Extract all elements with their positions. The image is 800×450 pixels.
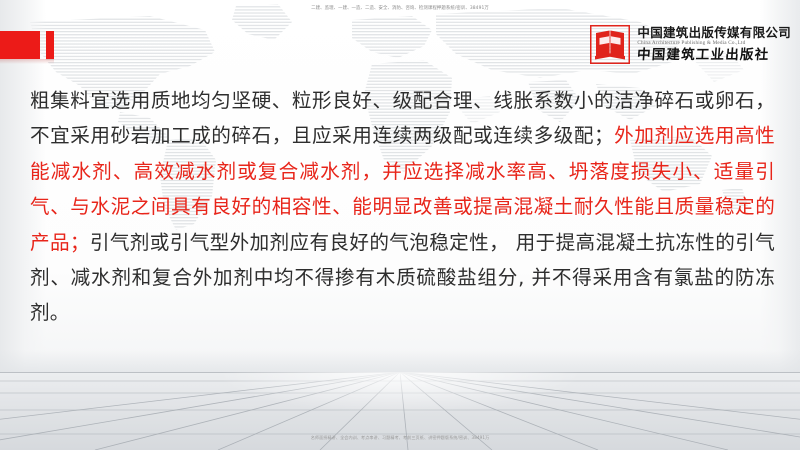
logo-press-cn: 中国建筑工业出版社	[637, 48, 792, 63]
logo-text-block: 中国建筑出版传媒有限公司 China Architecture Publishi…	[637, 26, 791, 63]
open-book-mark-svg	[590, 25, 630, 64]
red-accent-bar	[46, 31, 54, 59]
open-book-mark-icon	[590, 25, 630, 64]
publisher-logo: 中国建筑出版传媒有限公司 China Architecture Publishi…	[590, 25, 791, 64]
red-accent-block	[0, 31, 40, 59]
slide-canvas: 中国建筑出版传媒有限公司 China Architecture Publishi…	[0, 0, 800, 450]
slide-body-text: 粗集料宜选用质地均匀坚硬、粒形良好、级配合理、线胀系数小的洁净碎石或卵石，不宜采…	[30, 83, 775, 331]
logo-company-cn: 中国建筑出版传媒有限公司	[637, 26, 791, 39]
red-accent-shadow	[0, 59, 54, 64]
logo-company-en: China Architecture Publishing & Media Co…	[637, 40, 791, 47]
footer-meta-text: 名师面授精讲、全会内训、考点串讲、习题精考、考前三页纸、讲密押题版系统/密训、3…	[0, 435, 800, 441]
text-segment-3: 引气剂或引气型外加剂应有良好的气泡稳定性， 用于提高混凝土抗冻性的引气剂、减水剂…	[30, 231, 775, 325]
wall-shadow	[0, 350, 800, 372]
header-meta-text: 二建、监理、一建、一造、二造、安全、消防、咨询、检测课程押题系统/密训、3849…	[0, 6, 800, 12]
